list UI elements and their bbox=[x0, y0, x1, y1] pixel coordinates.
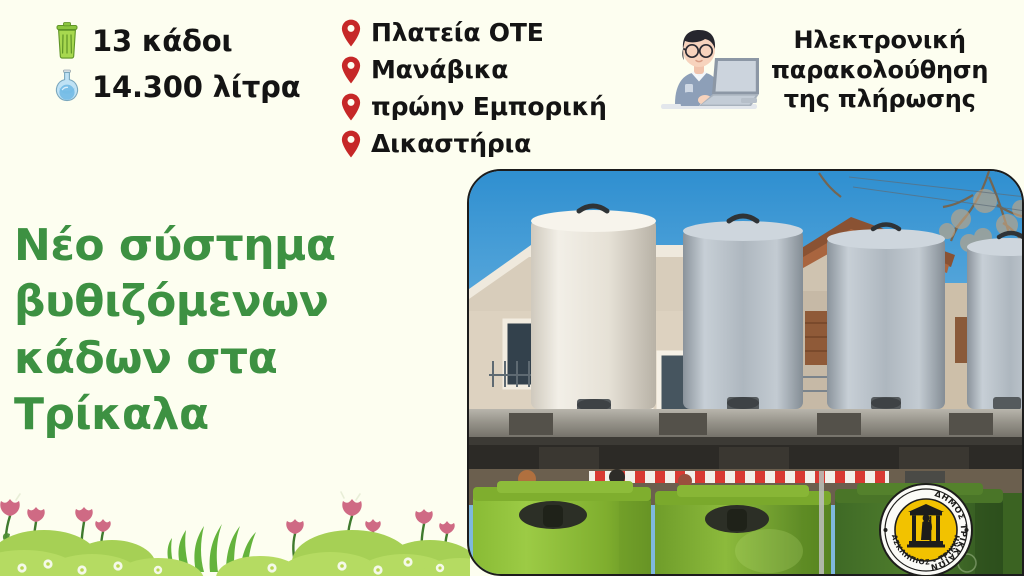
location-label: πρώην Εμπορική bbox=[371, 92, 607, 121]
flask-icon bbox=[52, 68, 82, 106]
map-pin-icon bbox=[340, 92, 362, 122]
emonitoring-label: Ηλεκτρονικήπαρακολούθησητης πλήρωσης bbox=[771, 18, 988, 115]
stats-block: 13 κάδοι 14.300 λίτρα bbox=[52, 18, 332, 110]
location-item-2[interactable]: πρώην Εμπορική bbox=[340, 88, 640, 125]
stat-label-litres: 14.300 λίτρα bbox=[92, 70, 300, 104]
location-item-3[interactable]: Δικαστήρια bbox=[340, 125, 640, 162]
poster-canvas: 13 κάδοι 14.300 λίτρα bbox=[0, 0, 1024, 576]
page-title: Νέο σύστημαβυθιζόμενωνκάδων στα Τρίκαλα bbox=[14, 218, 469, 443]
location-item-0[interactable]: Πλατεία ΟΤΕ bbox=[340, 14, 640, 51]
stat-row-litres: 14.300 λίτρα bbox=[52, 64, 332, 110]
municipality-seal: ΔΗΜΟΣ ΤΡΙΚΚΑΙΩΝ ΑΣΚΛΗΠΙΟΣ - ΤΡΙΚΚΗ bbox=[878, 482, 974, 576]
locations-list: Πλατεία ΟΤΕ Μανάβικα πρώην Εμπορική bbox=[340, 14, 640, 162]
map-pin-icon bbox=[340, 55, 362, 85]
location-label: Μανάβικα bbox=[371, 55, 508, 84]
location-item-1[interactable]: Μανάβικα bbox=[340, 51, 640, 88]
headline-line-2: βυθιζόμενων bbox=[14, 276, 328, 327]
stat-label-bins: 13 κάδοι bbox=[92, 24, 233, 58]
grass-decoration bbox=[0, 446, 470, 576]
map-pin-icon bbox=[340, 129, 362, 159]
headline-line-1: Νέο σύστημα bbox=[14, 220, 336, 271]
map-pin-icon bbox=[340, 18, 362, 48]
stat-row-bins: 13 κάδοι bbox=[52, 18, 332, 64]
wastebasket-icon bbox=[52, 22, 82, 60]
person-laptop-illustration-icon bbox=[655, 18, 763, 122]
location-label: Πλατεία ΟΤΕ bbox=[371, 18, 544, 47]
headline-line-3: κάδων στα Τρίκαλα bbox=[14, 333, 277, 440]
location-label: Δικαστήρια bbox=[371, 129, 531, 158]
emonitoring-block: Ηλεκτρονικήπαρακολούθησητης πλήρωσης bbox=[655, 18, 988, 122]
